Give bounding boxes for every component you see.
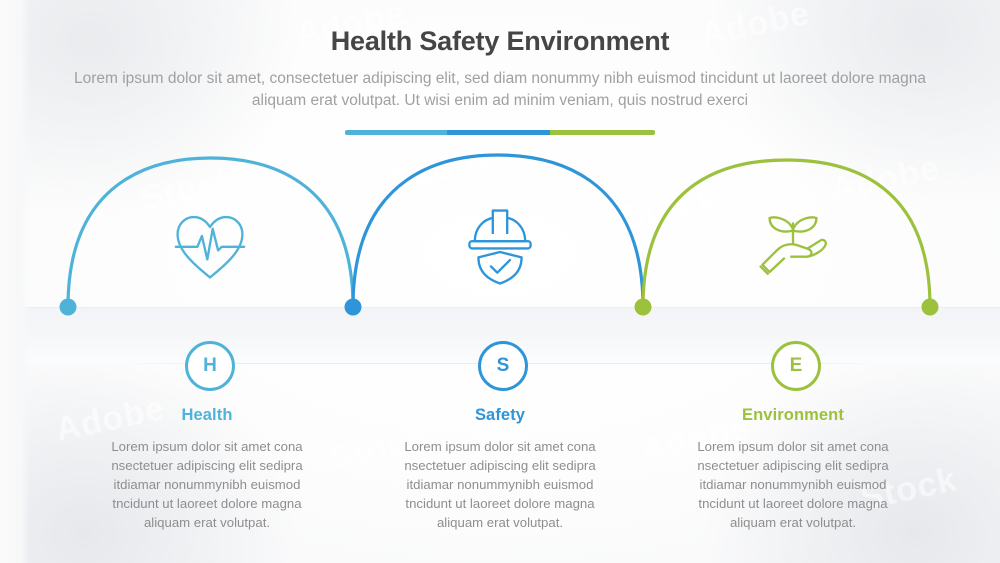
letter-badge-safety-label: S (497, 355, 510, 377)
letter-badge-environment-label: E (790, 355, 803, 377)
arc-endpoint-dot-health-left (60, 299, 77, 316)
section-environment: Environment Lorem ipsum dolor sit amet c… (648, 406, 938, 532)
section-health: Health Lorem ipsum dolor sit amet cona n… (62, 406, 352, 532)
section-environment-heading: Environment (648, 406, 938, 425)
letter-badge-health-label: H (203, 355, 217, 377)
section-safety: Safety Lorem ipsum dolor sit amet cona n… (355, 406, 645, 532)
watermark-strip (0, 0, 30, 563)
letter-badge-health: H (185, 341, 235, 391)
arc-endpoint-dot-environment-left (635, 299, 652, 316)
section-safety-body: Lorem ipsum dolor sit amet cona nsectetu… (355, 437, 645, 532)
letter-badge-safety: S (478, 341, 528, 391)
arc-endpoint-dot-safety-left (345, 299, 362, 316)
section-health-heading: Health (62, 406, 352, 425)
plant-in-hand-icon (748, 200, 838, 290)
arc-endpoint-dot-environment-right (922, 299, 939, 316)
section-health-body: Lorem ipsum dolor sit amet cona nsectetu… (62, 437, 352, 532)
section-environment-body: Lorem ipsum dolor sit amet cona nsectetu… (648, 437, 938, 532)
letter-badge-environment: E (771, 341, 821, 391)
safety-helmet-shield-icon (455, 198, 545, 288)
infographic-canvas: Adobe Adobe Stock Adobe Stock Adobe Adob… (0, 0, 1000, 563)
section-safety-heading: Safety (355, 406, 645, 425)
heart-pulse-icon (165, 200, 255, 290)
